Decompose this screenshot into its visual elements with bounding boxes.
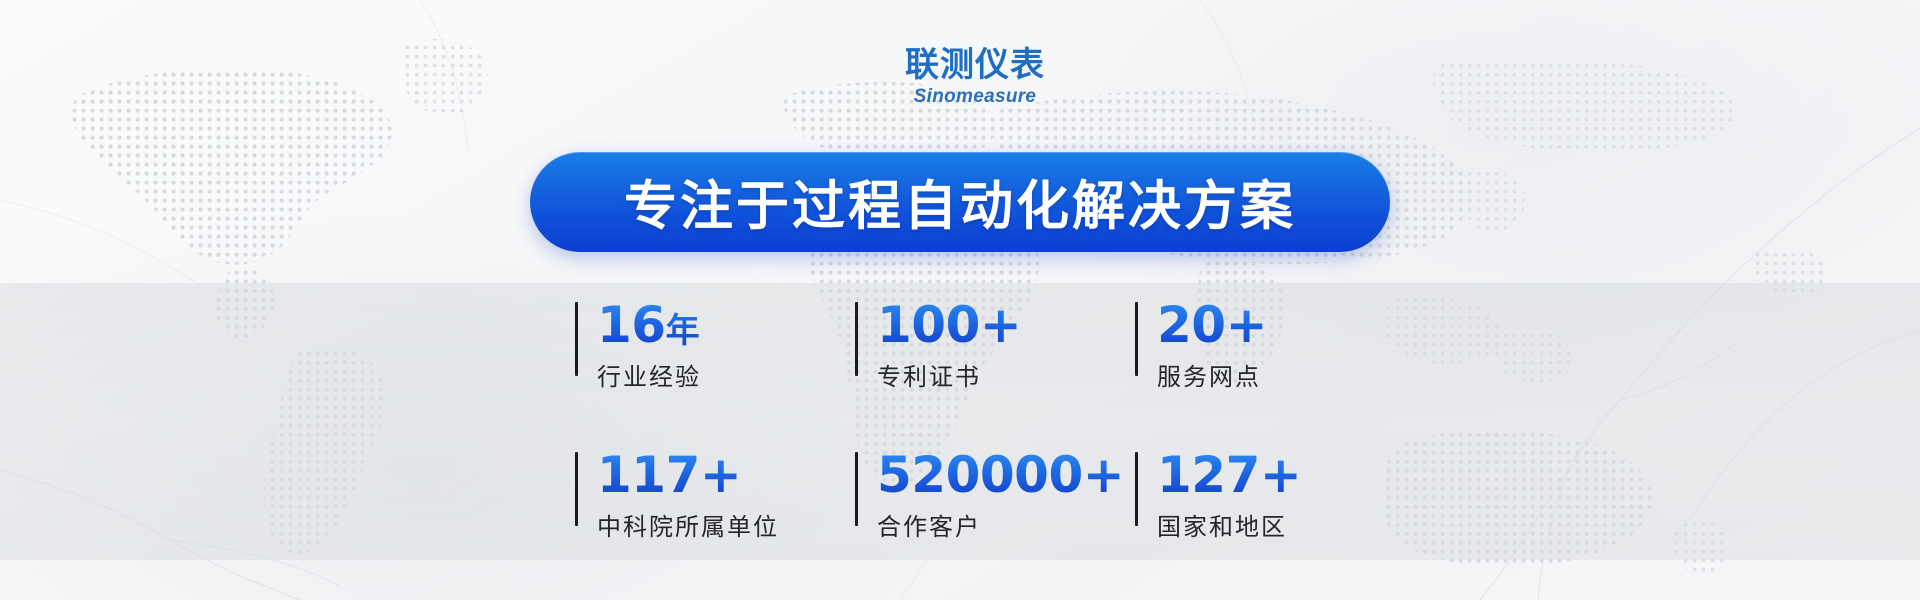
stat-label: 专利证书	[877, 357, 1135, 392]
stat-item-customers: 520000+ 合作客户	[855, 450, 1135, 542]
stat-item-patents: 100+ 专利证书	[855, 300, 1135, 392]
stat-label: 中科院所属单位	[597, 507, 855, 542]
stat-label: 服务网点	[1157, 357, 1365, 392]
stat-rule	[575, 302, 578, 376]
stat-label: 合作客户	[877, 507, 1135, 542]
stat-label: 国家和地区	[1157, 507, 1365, 542]
stat-item-years: 16年 行业经验	[575, 300, 855, 392]
stat-rule	[855, 452, 858, 526]
stat-item-service-sites: 20+ 服务网点	[1135, 300, 1365, 392]
brand-logo-cn: 联测仪表	[885, 48, 1065, 82]
stat-item-cas-units: 117+ 中科院所属单位	[575, 450, 855, 542]
stat-value: 117+	[597, 450, 855, 501]
promo-banner: 联测仪表 Sinomeasure 专注于过程自动化解决方案 16年 行业经验 1…	[0, 0, 1920, 600]
brand-logo: 联测仪表 Sinomeasure	[885, 48, 1065, 106]
stat-rule	[575, 452, 578, 526]
stat-value: 16年	[597, 300, 855, 351]
headline-text: 专注于过程自动化解决方案	[624, 164, 1296, 240]
headline-pill: 专注于过程自动化解决方案	[530, 152, 1390, 252]
stat-value: 520000+	[877, 450, 1135, 501]
stats-grid: 16年 行业经验 100+ 专利证书 20+ 服务网点 117+ 中科院所属单位…	[575, 300, 1275, 542]
stat-value: 100+	[877, 300, 1135, 351]
stat-value: 127+	[1157, 450, 1365, 501]
stat-rule	[1135, 302, 1138, 376]
stat-label: 行业经验	[597, 357, 855, 392]
brand-logo-en: Sinomeasure	[885, 87, 1065, 106]
stat-rule	[855, 302, 858, 376]
stat-rule	[1135, 452, 1138, 526]
stat-value: 20+	[1157, 300, 1365, 351]
stat-item-countries: 127+ 国家和地区	[1135, 450, 1365, 542]
